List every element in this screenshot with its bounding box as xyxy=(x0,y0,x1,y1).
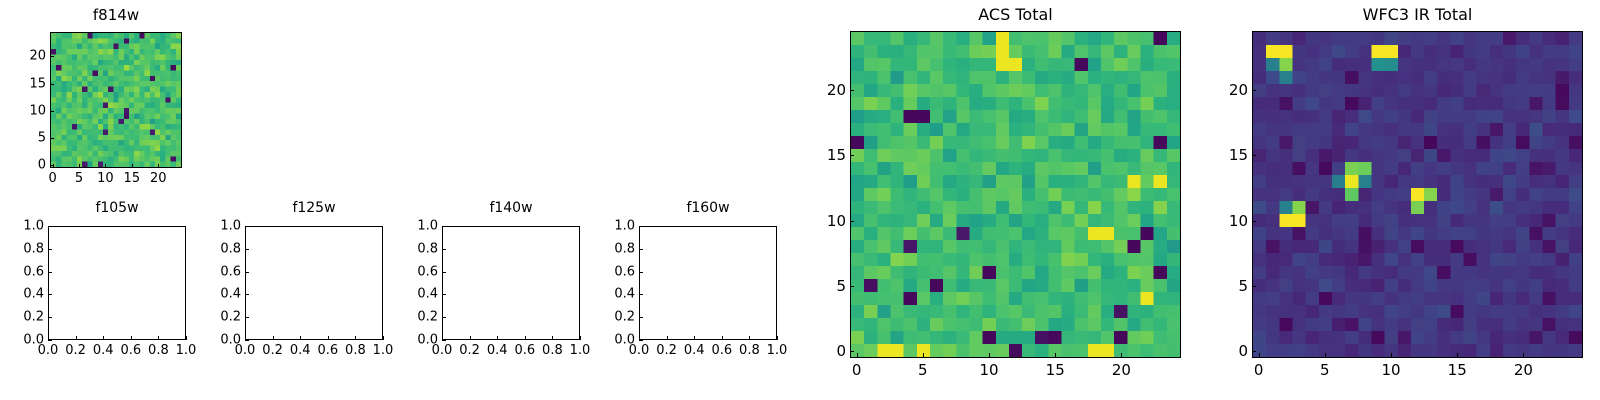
x-tickmark xyxy=(470,336,471,340)
x-tick-label: 5 xyxy=(1320,361,1330,379)
heatmap-image-wfc3-ir-total xyxy=(1253,32,1582,357)
y-tick-label: 0.0 xyxy=(199,333,241,348)
x-tickmark xyxy=(1259,353,1260,357)
x-tick-label: 0 xyxy=(48,171,56,186)
figure-canvas: f814w0510152005101520f105w0.00.20.40.60.… xyxy=(0,0,1600,400)
x-tick-label: 0.4 xyxy=(93,343,114,358)
x-tick-label: 1.0 xyxy=(176,343,197,358)
x-tickmark xyxy=(989,353,990,357)
plot-area-f105w xyxy=(48,226,186,340)
y-tickmark xyxy=(48,317,52,318)
plot-area-wfc3-ir-total xyxy=(1252,31,1583,358)
x-tickmark xyxy=(328,336,329,340)
x-tickmark xyxy=(158,336,159,340)
y-tickmark xyxy=(50,56,54,57)
plot-area-f140w xyxy=(442,226,580,340)
y-tickmark xyxy=(442,317,446,318)
y-tickmark xyxy=(639,340,643,341)
x-tick-label: 0.2 xyxy=(262,343,283,358)
x-tick-label: 0.2 xyxy=(656,343,677,358)
x-tickmark xyxy=(132,164,133,168)
y-tick-label: 0.0 xyxy=(2,333,44,348)
x-tickmark xyxy=(1121,353,1122,357)
y-tick-label: 0.0 xyxy=(396,333,438,348)
heatmap-image-f814w xyxy=(51,33,181,167)
y-tick-label: 0 xyxy=(4,158,46,173)
x-tick-label: 5 xyxy=(918,361,928,379)
x-tickmark xyxy=(525,336,526,340)
y-tickmark xyxy=(850,221,854,222)
y-tick-label: 0.2 xyxy=(199,310,241,325)
y-tickmark xyxy=(639,272,643,273)
x-tickmark xyxy=(103,336,104,340)
y-tickmark xyxy=(1252,351,1256,352)
x-tickmark xyxy=(355,336,356,340)
x-tickmark xyxy=(1457,353,1458,357)
y-tickmark xyxy=(245,340,249,341)
x-tick-label: 15 xyxy=(124,171,141,186)
y-tick-label: 0.0 xyxy=(593,333,635,348)
y-tick-label: 5 xyxy=(4,131,46,146)
x-tickmark xyxy=(383,336,384,340)
x-tick-label: 1.0 xyxy=(373,343,394,358)
x-tickmark xyxy=(857,353,858,357)
y-tick-label: 0.4 xyxy=(2,287,44,302)
x-tickmark xyxy=(694,336,695,340)
y-tick-label: 0.6 xyxy=(2,264,44,279)
x-tick-label: 0.2 xyxy=(65,343,86,358)
x-tickmark xyxy=(722,336,723,340)
x-tick-label: 0 xyxy=(1254,361,1264,379)
y-tickmark xyxy=(1252,90,1256,91)
y-tick-label: 20 xyxy=(804,81,846,99)
y-tick-label: 15 xyxy=(1206,146,1248,164)
y-tick-label: 1.0 xyxy=(396,219,438,234)
x-tick-label: 10 xyxy=(1381,361,1400,379)
x-tickmark xyxy=(273,336,274,340)
y-tickmark xyxy=(639,226,643,227)
y-tick-label: 0.8 xyxy=(199,241,241,256)
y-tick-label: 20 xyxy=(4,49,46,64)
y-tickmark xyxy=(50,111,54,112)
y-tick-label: 0.6 xyxy=(396,264,438,279)
y-tick-label: 10 xyxy=(4,103,46,118)
y-tickmark xyxy=(48,294,52,295)
x-tickmark xyxy=(1325,353,1326,357)
x-tick-label: 0.4 xyxy=(487,343,508,358)
y-tick-label: 0.4 xyxy=(593,287,635,302)
x-tick-label: 0.4 xyxy=(290,343,311,358)
panel-title-f814w: f814w xyxy=(0,6,316,24)
y-tickmark xyxy=(442,340,446,341)
y-tickmark xyxy=(850,286,854,287)
x-tickmark xyxy=(497,336,498,340)
x-tickmark xyxy=(186,336,187,340)
heatmap-image-acs-total xyxy=(851,32,1180,357)
x-tick-label: 0 xyxy=(852,361,862,379)
y-tickmark xyxy=(245,249,249,250)
x-tick-label: 0.8 xyxy=(148,343,169,358)
x-tick-label: 20 xyxy=(1514,361,1533,379)
y-tickmark xyxy=(245,317,249,318)
y-tickmark xyxy=(245,226,249,227)
y-tick-label: 10 xyxy=(1206,212,1248,230)
y-tickmark xyxy=(48,226,52,227)
x-tick-label: 5 xyxy=(75,171,83,186)
x-tickmark xyxy=(580,336,581,340)
y-tick-label: 1.0 xyxy=(199,219,241,234)
x-tick-label: 0.4 xyxy=(684,343,705,358)
y-tickmark xyxy=(442,249,446,250)
y-tickmark xyxy=(1252,155,1256,156)
y-tick-label: 20 xyxy=(1206,81,1248,99)
x-tick-label: 1.0 xyxy=(767,343,788,358)
x-tick-label: 0.6 xyxy=(317,343,338,358)
x-tick-label: 0.8 xyxy=(739,343,760,358)
x-tick-label: 0.2 xyxy=(459,343,480,358)
x-tick-label: 0.6 xyxy=(120,343,141,358)
y-tick-label: 0.8 xyxy=(2,241,44,256)
x-tickmark xyxy=(667,336,668,340)
plot-area-f814w xyxy=(50,32,182,168)
y-tick-label: 10 xyxy=(804,212,846,230)
y-tick-label: 15 xyxy=(804,146,846,164)
y-tick-label: 1.0 xyxy=(2,219,44,234)
x-tick-label: 15 xyxy=(1046,361,1065,379)
x-tickmark xyxy=(1523,353,1524,357)
plot-area-f160w xyxy=(639,226,777,340)
y-tick-label: 0.2 xyxy=(593,310,635,325)
y-tick-label: 0 xyxy=(804,342,846,360)
y-tickmark xyxy=(245,272,249,273)
y-tick-label: 0.2 xyxy=(2,310,44,325)
y-tickmark xyxy=(850,155,854,156)
y-tick-label: 15 xyxy=(4,76,46,91)
y-tickmark xyxy=(1252,286,1256,287)
y-tick-label: 0.2 xyxy=(396,310,438,325)
x-tick-label: 0.6 xyxy=(514,343,535,358)
x-tickmark xyxy=(1055,353,1056,357)
y-tickmark xyxy=(442,272,446,273)
y-tick-label: 0.4 xyxy=(199,287,241,302)
x-tick-label: 0.8 xyxy=(542,343,563,358)
y-tickmark xyxy=(48,249,52,250)
x-tick-label: 0.8 xyxy=(345,343,366,358)
x-tick-label: 15 xyxy=(1448,361,1467,379)
y-tickmark xyxy=(50,84,54,85)
plot-area-acs-total xyxy=(850,31,1181,358)
y-tickmark xyxy=(442,226,446,227)
x-tickmark xyxy=(105,164,106,168)
y-tickmark xyxy=(850,351,854,352)
x-tick-label: 0.6 xyxy=(711,343,732,358)
panel-title-f160w: f160w xyxy=(508,200,908,216)
x-tick-label: 20 xyxy=(1112,361,1131,379)
y-tick-label: 0.6 xyxy=(199,264,241,279)
x-tickmark xyxy=(552,336,553,340)
y-tickmark xyxy=(639,249,643,250)
x-tickmark xyxy=(300,336,301,340)
y-tick-label: 5 xyxy=(804,277,846,295)
x-tickmark xyxy=(158,164,159,168)
y-tickmark xyxy=(1252,221,1256,222)
y-tickmark xyxy=(245,294,249,295)
panel-title-wfc3-ir-total: WFC3 IR Total xyxy=(1218,5,1600,24)
x-tick-label: 20 xyxy=(150,171,167,186)
x-tickmark xyxy=(79,164,80,168)
y-tick-label: 1.0 xyxy=(593,219,635,234)
plot-area-f125w xyxy=(245,226,383,340)
x-tickmark xyxy=(1391,353,1392,357)
x-tickmark xyxy=(923,353,924,357)
x-tick-label: 10 xyxy=(979,361,998,379)
y-tick-label: 0.4 xyxy=(396,287,438,302)
y-tickmark xyxy=(639,317,643,318)
y-tick-label: 0.6 xyxy=(593,264,635,279)
y-tickmark xyxy=(48,340,52,341)
y-tickmark xyxy=(639,294,643,295)
y-tick-label: 0.8 xyxy=(396,241,438,256)
y-tick-label: 0 xyxy=(1206,342,1248,360)
y-tickmark xyxy=(442,294,446,295)
y-tickmark xyxy=(50,165,54,166)
y-tick-label: 5 xyxy=(1206,277,1248,295)
y-tickmark xyxy=(850,90,854,91)
x-tickmark xyxy=(749,336,750,340)
x-tickmark xyxy=(131,336,132,340)
y-tick-label: 0.8 xyxy=(593,241,635,256)
x-tickmark xyxy=(777,336,778,340)
y-tickmark xyxy=(50,138,54,139)
x-tick-label: 10 xyxy=(97,171,114,186)
panel-title-acs-total: ACS Total xyxy=(816,5,1216,24)
y-tickmark xyxy=(48,272,52,273)
x-tick-label: 1.0 xyxy=(570,343,591,358)
x-tickmark xyxy=(76,336,77,340)
